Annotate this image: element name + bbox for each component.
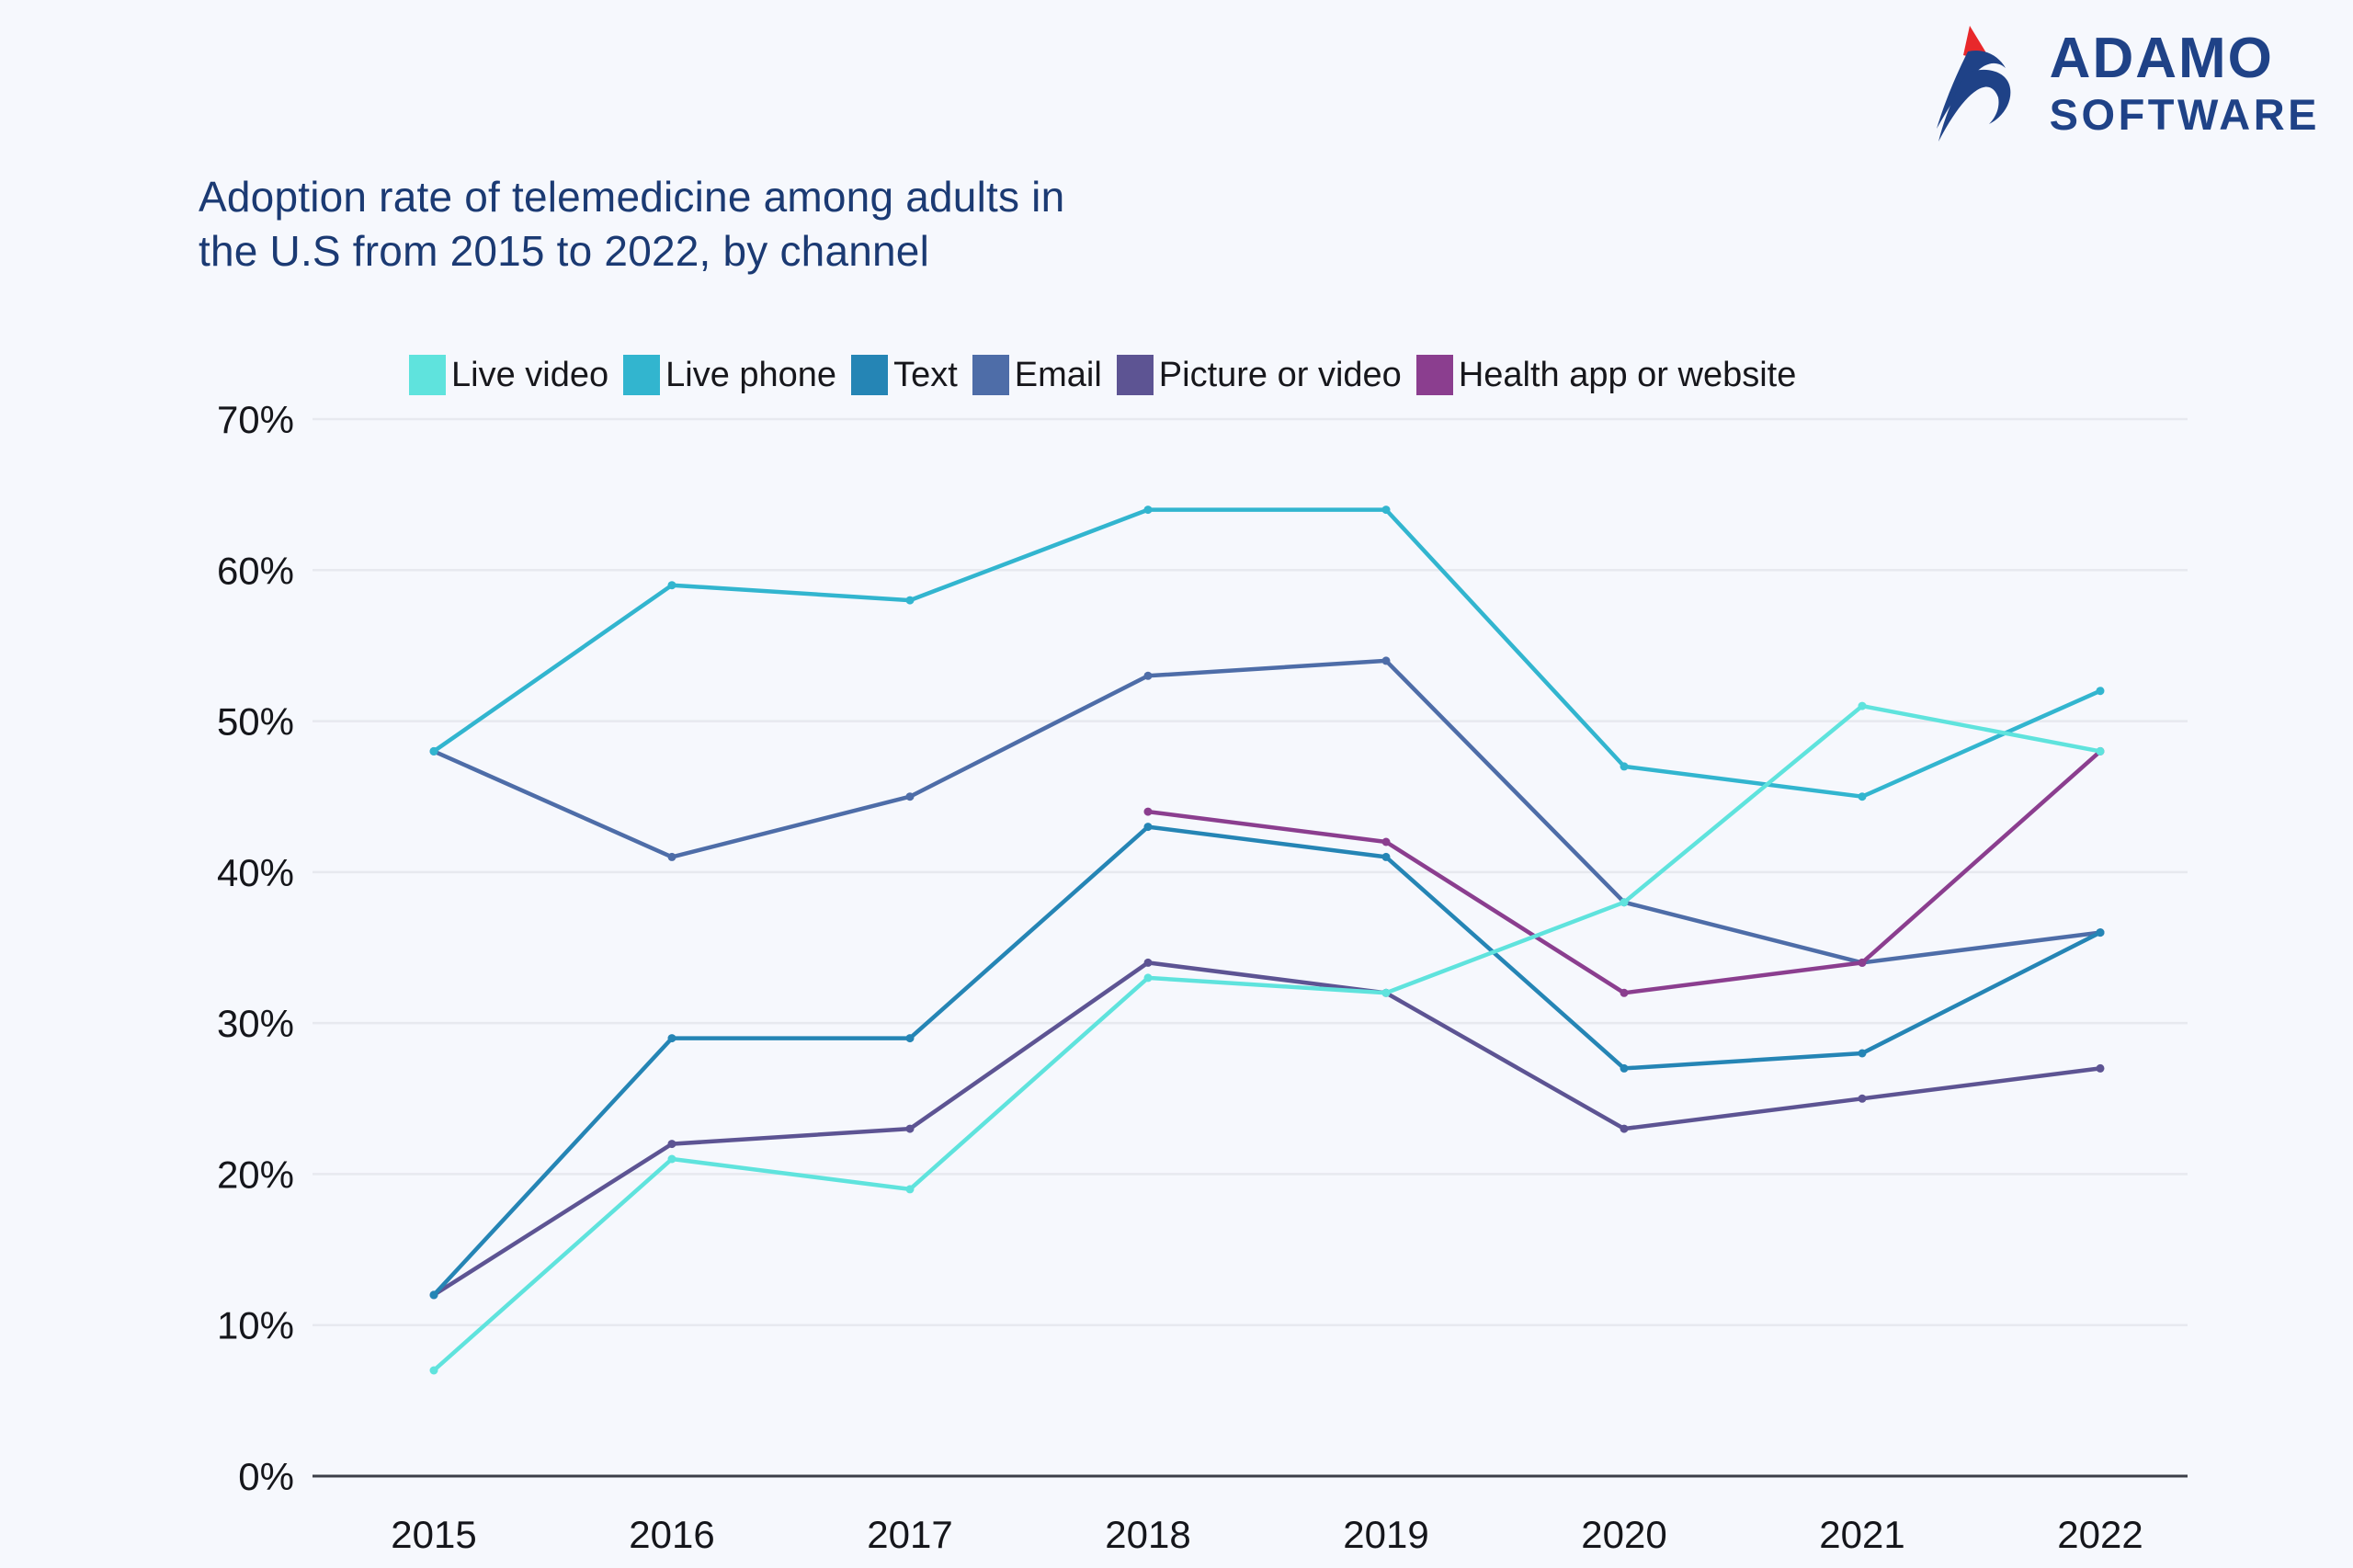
x-axis-tick-label: 2019: [1343, 1513, 1428, 1556]
data-point: [668, 1140, 676, 1148]
data-point: [1144, 808, 1153, 816]
data-point: [1382, 506, 1391, 514]
data-point: [1144, 823, 1153, 831]
x-axis-tick-label: 2022: [2057, 1513, 2143, 1556]
data-point: [906, 1034, 915, 1042]
data-point: [2097, 928, 2105, 937]
data-point: [1620, 989, 1629, 997]
data-point: [1382, 853, 1391, 861]
x-axis-tick-label: 2018: [1105, 1513, 1190, 1556]
data-point: [1382, 838, 1391, 846]
data-point: [2097, 687, 2105, 695]
data-point: [2097, 1064, 2105, 1073]
data-point: [668, 853, 676, 861]
data-point: [1859, 1095, 1867, 1103]
data-point: [1859, 1050, 1867, 1058]
data-point: [906, 597, 915, 605]
data-point: [906, 1185, 915, 1193]
data-point: [668, 581, 676, 589]
y-axis-tick-label: 20%: [217, 1153, 294, 1196]
data-point: [1382, 989, 1391, 997]
y-axis-tick-label: 50%: [217, 700, 294, 744]
series-line-live-phone: [434, 510, 2100, 797]
series-line-picture-or-video: [434, 962, 2100, 1295]
data-point: [1382, 656, 1391, 665]
data-point: [906, 792, 915, 801]
data-point: [1144, 973, 1153, 982]
x-axis-tick-label: 2021: [1819, 1513, 1904, 1556]
data-point: [1859, 959, 1867, 967]
data-point: [1620, 898, 1629, 906]
y-axis-tick-label: 30%: [217, 1002, 294, 1045]
data-point: [1620, 1125, 1629, 1133]
line-chart-svg: 0%10%20%30%40%50%60%70%20152016201720182…: [0, 0, 2353, 1568]
chart-page: ADAMO SOFTWARE Adoption rate of telemedi…: [0, 0, 2353, 1568]
data-point: [1620, 1064, 1629, 1073]
data-point: [1144, 672, 1153, 680]
y-axis-tick-label: 60%: [217, 549, 294, 592]
data-point: [430, 747, 438, 756]
chart-plot-area: 0%10%20%30%40%50%60%70%20152016201720182…: [0, 0, 2353, 1568]
data-point: [430, 1290, 438, 1299]
data-point: [1144, 959, 1153, 967]
y-axis-tick-label: 40%: [217, 851, 294, 894]
data-point: [668, 1034, 676, 1042]
x-axis-tick-label: 2016: [629, 1513, 714, 1556]
series-line-text: [434, 827, 2100, 1295]
data-point: [668, 1155, 676, 1164]
x-axis-tick-label: 2020: [1581, 1513, 1666, 1556]
y-axis-tick-label: 0%: [238, 1455, 294, 1498]
data-point: [1859, 702, 1867, 710]
x-axis-tick-label: 2015: [391, 1513, 476, 1556]
data-point: [430, 1367, 438, 1375]
data-point: [906, 1125, 915, 1133]
data-point: [1859, 792, 1867, 801]
data-point: [2097, 747, 2105, 756]
y-axis-tick-label: 70%: [217, 398, 294, 441]
data-point: [1144, 506, 1153, 514]
data-point: [1620, 762, 1629, 770]
y-axis-tick-label: 10%: [217, 1304, 294, 1347]
series-line-email: [434, 661, 2100, 963]
x-axis-tick-label: 2017: [867, 1513, 952, 1556]
